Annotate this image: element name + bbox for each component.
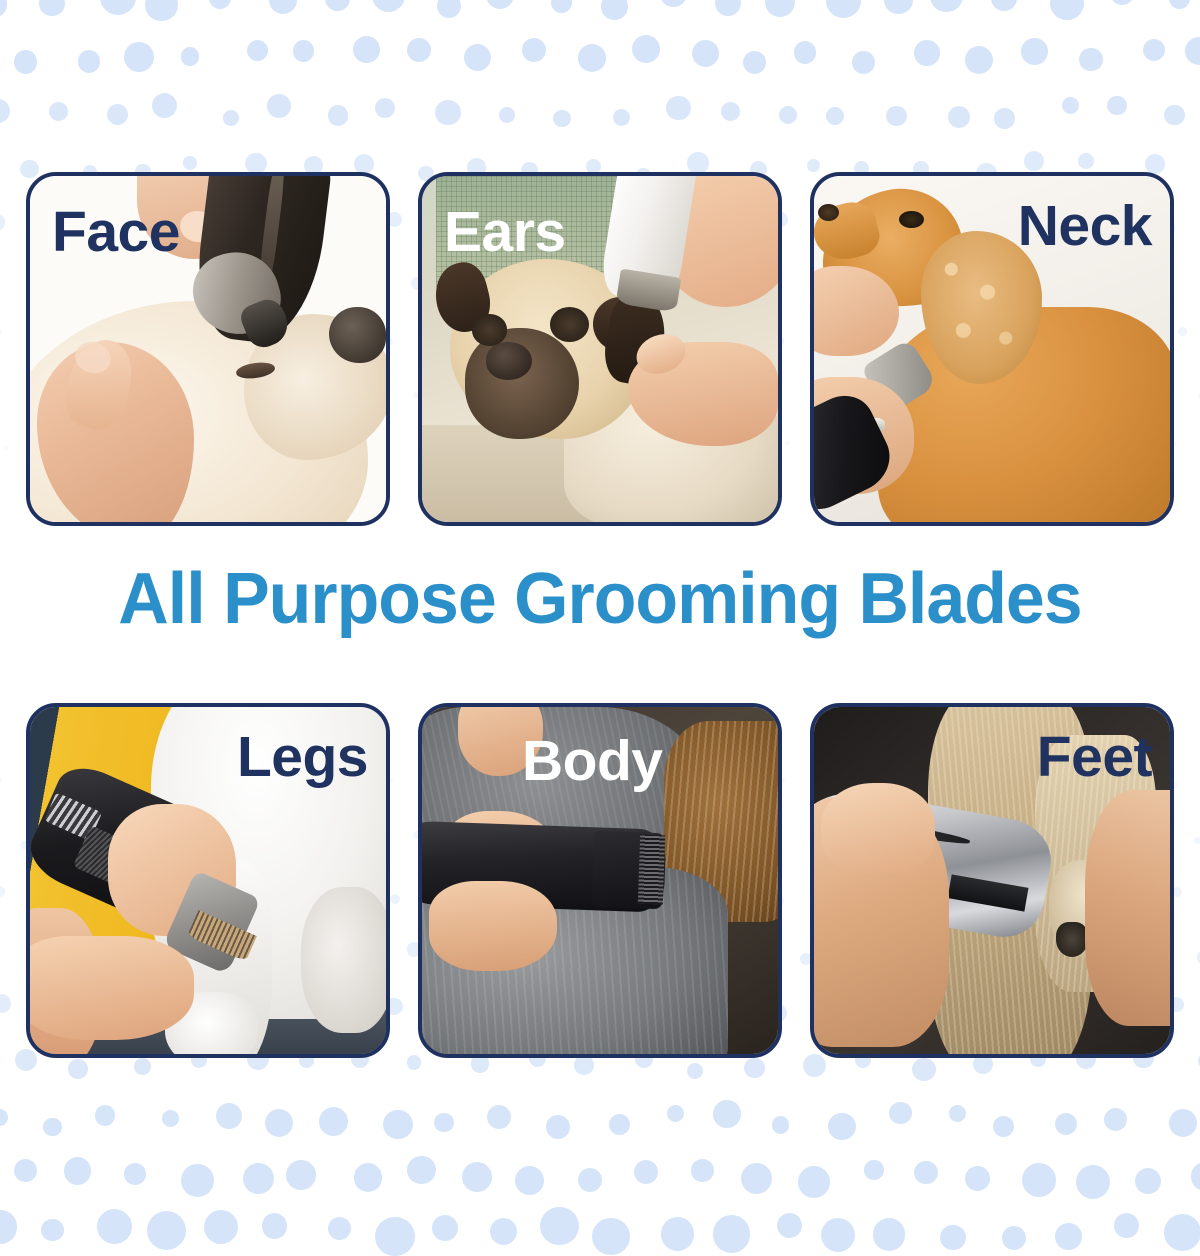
background-dot [1114, 1213, 1139, 1238]
background-dot [375, 1217, 414, 1256]
background-dot [328, 1217, 351, 1240]
background-dot [1055, 1223, 1082, 1250]
background-dot [204, 1210, 238, 1244]
card-body[interactable]: Body [418, 703, 782, 1058]
card-label-legs: Legs [237, 729, 368, 786]
background-dot [1164, 1214, 1200, 1251]
page-headline: All Purpose Grooming Blades [18, 563, 1182, 635]
background-dot [540, 1207, 579, 1246]
card-label-feet: Feet [1037, 729, 1152, 786]
background-dot [490, 1218, 517, 1245]
background-dot [821, 1218, 855, 1252]
background-dot [41, 1219, 64, 1242]
background-dot [592, 1218, 630, 1256]
background-dot [713, 1215, 750, 1252]
background-dot [0, 1210, 17, 1244]
background-dot [873, 1218, 905, 1250]
background-dot [432, 1215, 458, 1241]
card-label-neck: Neck [1018, 198, 1152, 255]
card-feet[interactable]: Feet [810, 703, 1174, 1058]
background-dot [97, 1209, 132, 1244]
card-legs[interactable]: Legs [26, 703, 390, 1058]
card-label-ears: Ears [444, 204, 566, 261]
background-dot [1002, 1226, 1027, 1251]
card-neck[interactable]: Neck [810, 172, 1174, 526]
card-label-face: Face [52, 204, 180, 261]
card-face[interactable]: Face [26, 172, 390, 526]
background-dot [661, 1217, 694, 1250]
background-dot [147, 1211, 186, 1250]
card-ears[interactable]: Ears [418, 172, 782, 526]
background-dot [940, 1225, 965, 1250]
card-label-body: Body [522, 733, 663, 790]
background-dot [777, 1213, 802, 1238]
background-dot [262, 1213, 287, 1238]
